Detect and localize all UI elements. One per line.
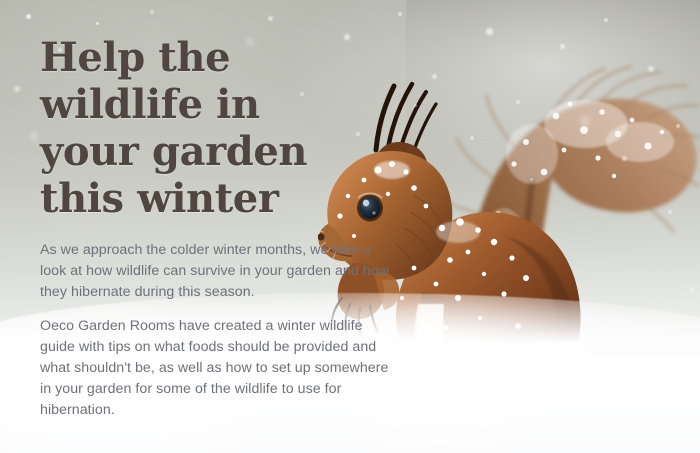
guide-paragraph: Oeco Garden Rooms have created a winter …	[40, 316, 392, 420]
headline-line-2: wildlife in	[40, 81, 370, 128]
banner-content: Help the wildlife in your garden this wi…	[40, 34, 370, 420]
page-title: Help the wildlife in your garden this wi…	[40, 34, 370, 222]
body-copy: As we approach the colder winter months,…	[40, 240, 392, 420]
intro-paragraph: As we approach the colder winter months,…	[40, 240, 392, 302]
headline-line-1: Help the	[40, 34, 370, 81]
headline-line-4: this winter	[40, 175, 370, 222]
headline-line-3: your garden	[40, 128, 370, 175]
winter-wildlife-banner: Help the wildlife in your garden this wi…	[0, 0, 700, 453]
